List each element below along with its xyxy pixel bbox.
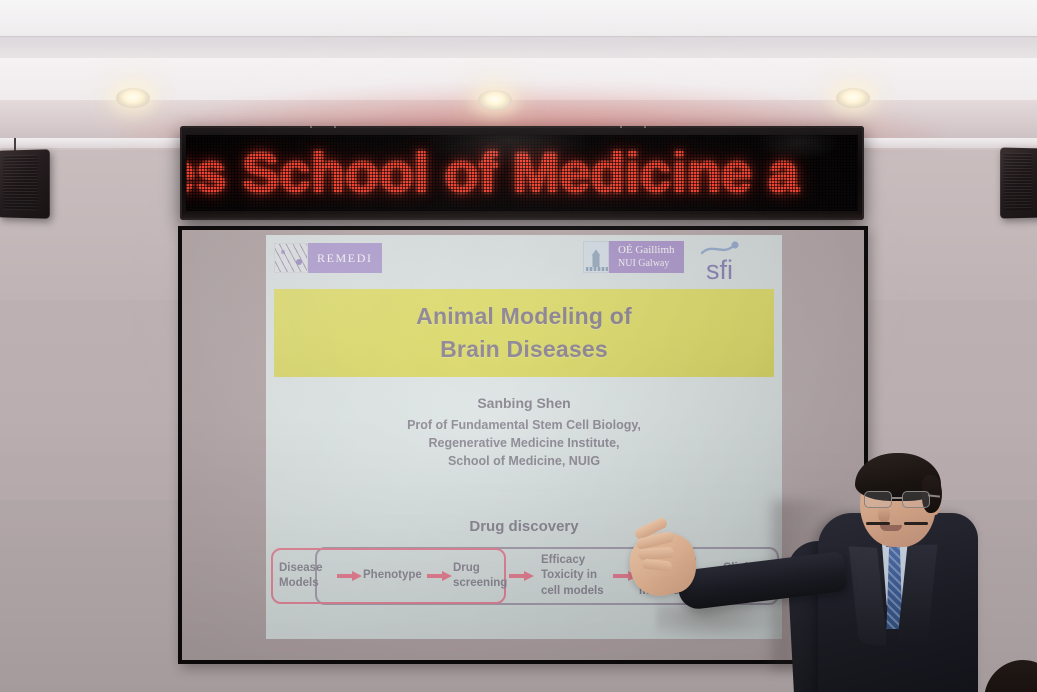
nuig-english-name: NUI Galway xyxy=(618,258,675,271)
slide-title-line-2: Brain Diseases xyxy=(440,336,608,363)
slide-logo-row: REMEDI OÉ Gaillimh NUI Galway xyxy=(266,235,782,287)
nuig-wordmark: OÉ Gaillimh NUI Galway xyxy=(609,241,684,273)
flow-node-phenotype: Phenotype xyxy=(363,568,427,583)
lecture-room-photo: es School of Medicine a REMEDI xyxy=(0,0,1037,692)
led-sign-hook-right xyxy=(620,126,646,128)
right-wall-speaker xyxy=(1000,147,1037,218)
scrolling-led-sign: es School of Medicine a xyxy=(180,126,864,220)
remedi-logo: REMEDI xyxy=(274,243,382,273)
slide-title-band: Animal Modeling of Brain Diseases xyxy=(274,289,774,377)
remedi-wordmark: REMEDI xyxy=(308,243,382,273)
svg-text:sfi: sfi xyxy=(706,255,733,283)
left-wall-speaker xyxy=(0,149,50,218)
led-sign-text: es School of Medicine a xyxy=(186,140,799,206)
flow-arrow-2-icon xyxy=(427,571,453,581)
presenter-mouth xyxy=(880,525,902,531)
glasses-lens-left xyxy=(864,491,892,508)
flow-node-disease-models: Disease Models xyxy=(279,561,337,591)
remedi-dot-small-icon xyxy=(281,250,285,254)
remedi-dot-icon xyxy=(296,259,302,265)
author-name: Sanbing Shen xyxy=(266,395,782,411)
presenter-figure xyxy=(640,455,1037,692)
presenter-nose xyxy=(878,507,890,523)
led-sign-hook-left xyxy=(310,126,336,128)
ceiling-downlight-center xyxy=(478,90,512,110)
ceiling-downlight-left xyxy=(116,88,150,108)
ceiling-downlight-right xyxy=(836,88,870,108)
presenter-eyebrow-left xyxy=(866,522,890,525)
ceiling-soffit-upper xyxy=(0,0,1037,36)
flow-arrow-3-icon xyxy=(509,571,535,581)
slide-title-line-1: Animal Modeling of xyxy=(416,303,632,330)
presenter-eyebrow-right xyxy=(904,522,928,525)
remedi-graphic-icon xyxy=(274,243,308,273)
flow-node-drug-screening: Drug screening xyxy=(453,561,509,591)
sfi-logo-svg: sfi xyxy=(698,239,754,283)
crest-base-icon xyxy=(586,267,608,271)
glasses-bridge xyxy=(892,497,902,499)
author-affiliation-1: Prof of Fundamental Stem Cell Biology, xyxy=(266,416,782,434)
glasses-lens-right xyxy=(902,491,930,508)
nuig-irish-name: OÉ Gaillimh xyxy=(618,244,675,258)
speaker-grille xyxy=(3,155,38,211)
nuig-tower-crest-icon xyxy=(583,241,609,273)
nui-galway-logo: OÉ Gaillimh NUI Galway xyxy=(583,241,684,273)
glasses-icon xyxy=(862,491,936,508)
sfi-logo: sfi xyxy=(698,239,754,283)
author-affiliation-2: Regenerative Medicine Institute, xyxy=(266,434,782,452)
flow-node-cell-models: Efficacy Toxicity in cell models xyxy=(541,553,613,599)
ceiling-soffit-shadow xyxy=(0,36,1037,58)
led-sign-display: es School of Medicine a xyxy=(186,135,858,211)
speaker-grille xyxy=(1004,153,1032,211)
flow-arrow-1-icon xyxy=(337,571,363,581)
